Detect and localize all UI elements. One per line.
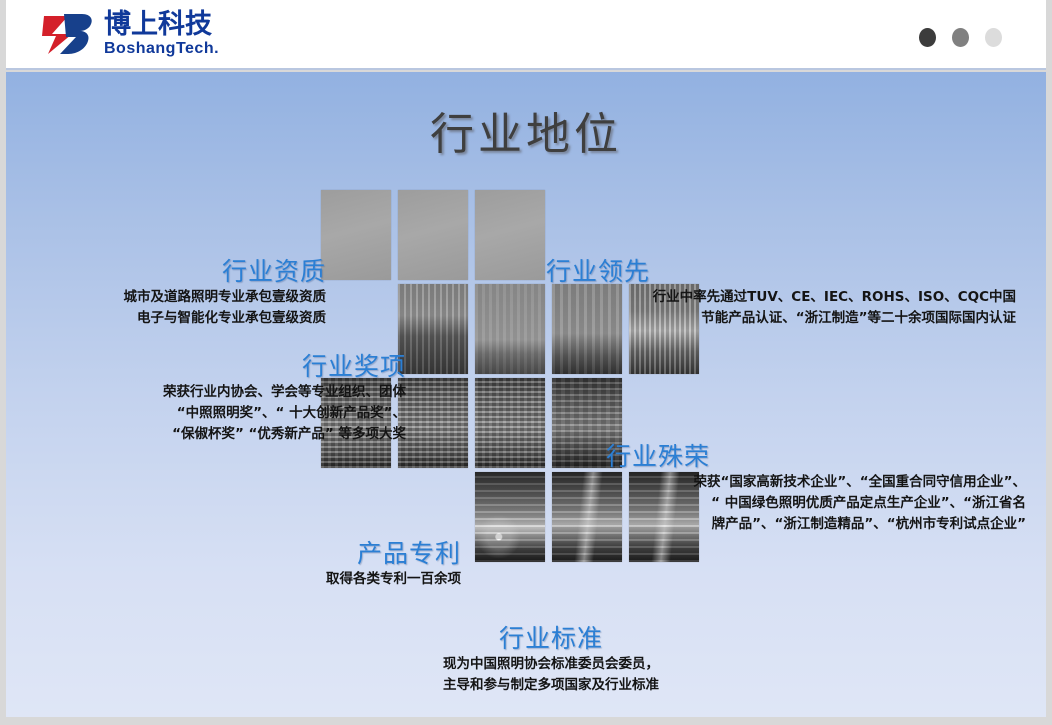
callout-awards-line-1: 荣获行业内协会、学会等专业组织、团体	[116, 382, 406, 403]
callout-honors-line-2: “ 中国绿色照明优质产品定点生产企业”、“浙江省名	[606, 493, 1026, 514]
boshang-b-mark-icon	[42, 10, 96, 58]
callout-honors-heading: 行业殊荣	[606, 443, 1026, 472]
callout-awards: 行业奖项 荣获行业内协会、学会等专业组织、团体 “中照照明奖”、“ 十大创新产品…	[116, 353, 406, 445]
dot-dark-icon	[919, 28, 936, 47]
dot-light-icon	[985, 28, 1002, 47]
callout-standards: 行业标准 现为中国照明协会标准委员会委员， 主导和参与制定多项国家及行业标准	[386, 625, 716, 696]
callout-patents-heading: 产品专利	[256, 540, 461, 569]
header-bar: 博上科技 BoshangTech.	[6, 0, 1046, 70]
photo-sky-1	[321, 190, 391, 280]
callout-honors-body: 荣获“国家高新技术企业”、“全国重合同守信用企业”、 “ 中国绿色照明优质产品定…	[606, 472, 1026, 535]
photo-sky-2	[398, 190, 468, 280]
callout-leading-line-2: 节能产品认证、“浙江制造”等二十余项国际国内认证	[546, 308, 1016, 329]
callout-qualification-heading: 行业资质	[26, 258, 326, 287]
logo-wordmark: 博上科技 BoshangTech.	[104, 11, 219, 57]
photo-highrise-2	[398, 378, 468, 468]
logo-chinese-name: 博上科技	[104, 11, 219, 38]
callout-standards-body: 现为中国照明协会标准委员会委员， 主导和参与制定多项国家及行业标准	[386, 654, 716, 696]
callout-patents-line-1: 取得各类专利一百余项	[256, 569, 461, 590]
header-dots-group	[919, 28, 1002, 47]
photo-skyline-low	[475, 284, 545, 374]
callout-qualification-body: 城市及道路照明专业承包壹级资质 电子与智能化专业承包壹级资质	[26, 287, 326, 329]
callout-awards-line-3: “保俶杯奖” “优秀新产品” 等多项大奖	[116, 424, 406, 445]
callout-qualification: 行业资质 城市及道路照明专业承包壹级资质 电子与智能化专业承包壹级资质	[26, 258, 326, 329]
logo-english-name: BoshangTech.	[104, 41, 219, 57]
photo-street-star	[475, 472, 545, 562]
callout-honors-line-3: 牌产品”、“浙江制造精品”、“杭州市专利试点企业”	[606, 514, 1026, 535]
callout-qualification-line-1: 城市及道路照明专业承包壹级资质	[26, 287, 326, 308]
callout-standards-line-1: 现为中国照明协会标准委员会委员，	[386, 654, 716, 675]
callout-qualification-line-2: 电子与智能化专业承包壹级资质	[26, 308, 326, 329]
slide-body: 行业地位 行业资质 城市及道路照明专业承包壹级资质 电子与智能化专业承包壹级资质…	[6, 72, 1046, 717]
callout-leading-line-1: 行业中率先通过TUV、CE、IEC、ROHS、ISO、CQC中国	[546, 287, 1016, 308]
callout-awards-line-2: “中照照明奖”、“ 十大创新产品奖”、	[116, 403, 406, 424]
photo-highrise-3	[475, 378, 545, 468]
callout-awards-heading: 行业奖项	[116, 353, 406, 382]
callout-leading-heading: 行业领先	[546, 258, 1016, 287]
callout-patents-body: 取得各类专利一百余项	[256, 569, 461, 590]
callout-standards-heading: 行业标准	[386, 625, 716, 654]
callout-honors-line-1: 荣获“国家高新技术企业”、“全国重合同守信用企业”、	[606, 472, 1026, 493]
company-logo: 博上科技 BoshangTech.	[42, 10, 219, 58]
callout-awards-body: 荣获行业内协会、学会等专业组织、团体 “中照照明奖”、“ 十大创新产品奖”、 “…	[116, 382, 406, 445]
callout-standards-line-2: 主导和参与制定多项国家及行业标准	[386, 675, 716, 696]
slide-frame: 博上科技 BoshangTech. 行业地位 行业资质 城市及道路照明专业承包壹…	[0, 0, 1052, 725]
dot-medium-icon	[952, 28, 969, 47]
callout-leading-body: 行业中率先通过TUV、CE、IEC、ROHS、ISO、CQC中国 节能产品认证、…	[546, 287, 1016, 329]
callout-patents: 产品专利 取得各类专利一百余项	[256, 540, 461, 590]
callout-honors: 行业殊荣 荣获“国家高新技术企业”、“全国重合同守信用企业”、 “ 中国绿色照明…	[606, 443, 1026, 535]
photo-sky-3	[475, 190, 545, 280]
photo-tower-1	[398, 284, 468, 374]
callout-leading: 行业领先 行业中率先通过TUV、CE、IEC、ROHS、ISO、CQC中国 节能…	[546, 258, 1016, 329]
